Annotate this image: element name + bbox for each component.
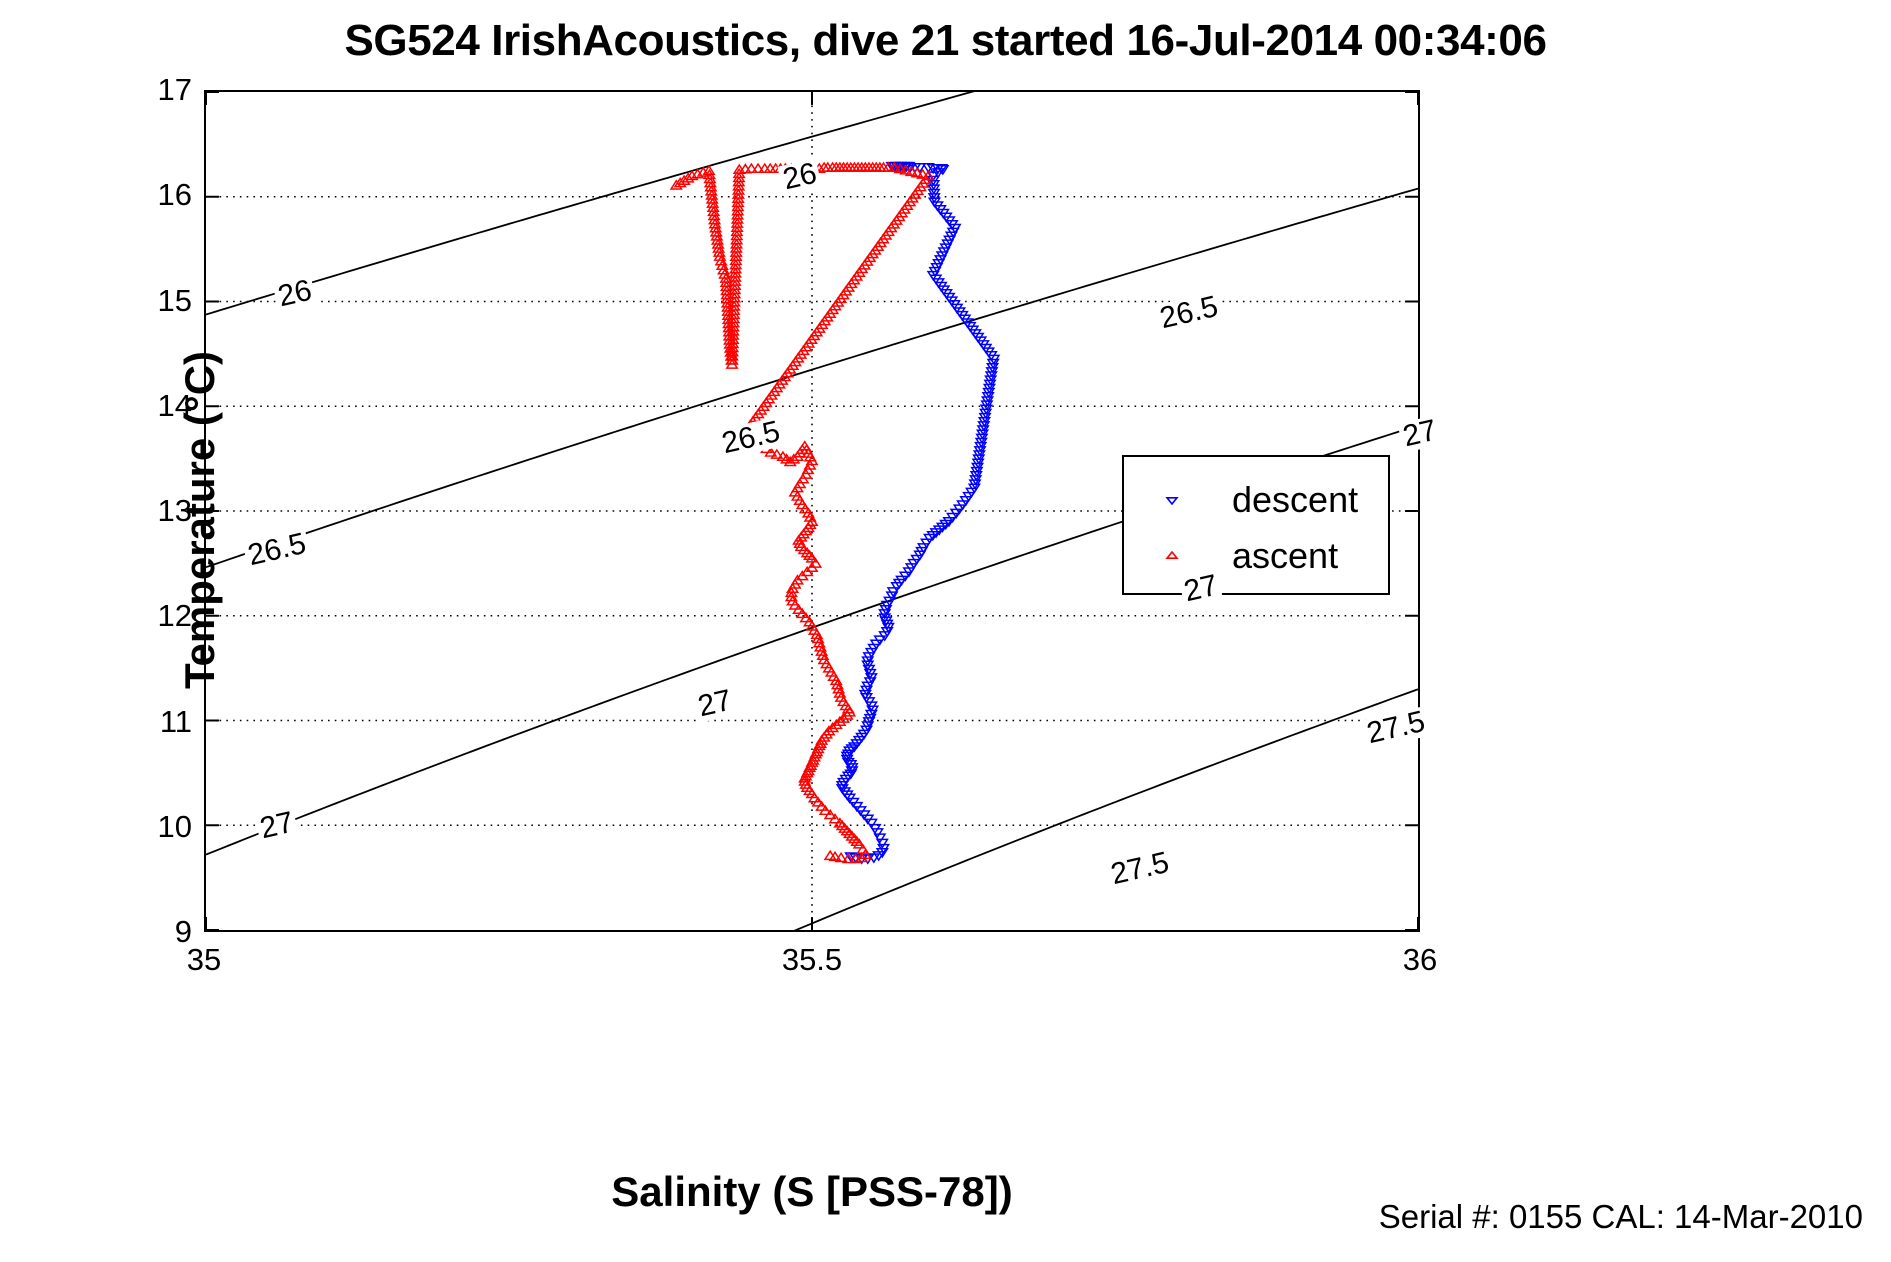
series-descent (837, 163, 999, 864)
y-tick-label: 15 (132, 285, 192, 316)
y-tick-label: 17 (132, 74, 192, 105)
y-tick-label: 9 (132, 916, 192, 947)
y-tick-label: 12 (132, 600, 192, 631)
chart-legend: descentascent (1122, 455, 1390, 595)
ts-diagram-figure: SG524 IrishAcoustics, dive 21 started 16… (0, 0, 1891, 1262)
serial-cal-footer: Serial #: 0155 CAL: 14-Mar-2010 (1379, 1198, 1863, 1236)
density-contour-label: 27 (1397, 415, 1442, 453)
page-title: SG524 IrishAcoustics, dive 21 started 16… (0, 16, 1891, 66)
legend-label: descent (1232, 482, 1358, 518)
y-axis-ticks: 91011121314151617 (126, 90, 192, 932)
y-tick-label: 16 (132, 179, 192, 210)
y-tick-label: 13 (132, 495, 192, 526)
series-ascent (671, 163, 933, 863)
x-tick-label: 35.5 (752, 944, 872, 975)
triangle-down-icon (1164, 492, 1180, 508)
triangle-up-icon (1164, 548, 1180, 564)
y-tick-label: 14 (132, 390, 192, 421)
x-axis-ticks: 3535.536 (204, 944, 1420, 984)
marker-triangle-down (875, 834, 885, 842)
x-axis-label: Salinity (S [PSS-78]) (204, 1168, 1420, 1216)
x-tick-label: 35 (144, 944, 264, 975)
x-tick-label: 36 (1360, 944, 1480, 975)
y-tick-label: 11 (132, 706, 192, 737)
y-tick-label: 10 (132, 811, 192, 842)
legend-item-ascent[interactable]: ascent (1124, 527, 1392, 585)
legend-label: ascent (1232, 538, 1338, 574)
density-contour-line (206, 92, 1418, 315)
legend-item-descent[interactable]: descent (1124, 471, 1392, 529)
